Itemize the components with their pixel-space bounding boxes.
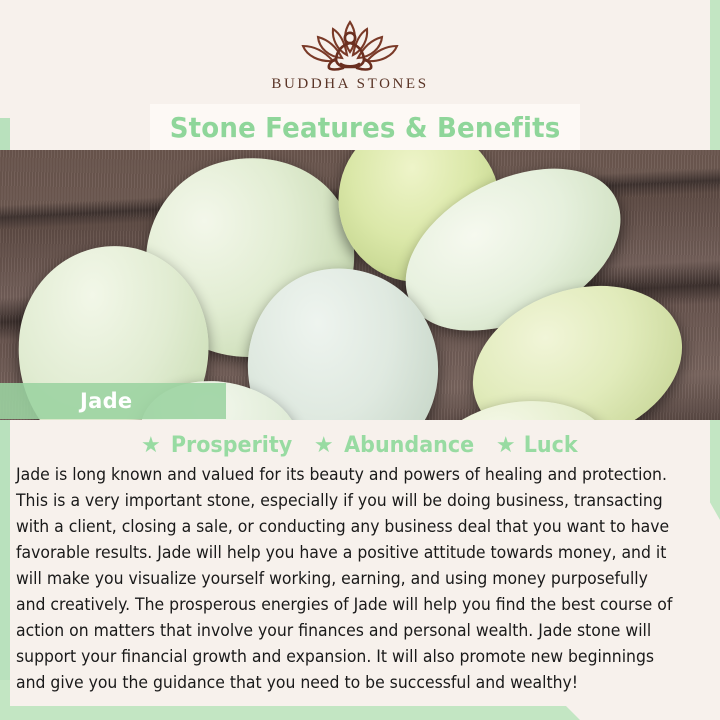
lotus-meditation-icon xyxy=(285,12,415,74)
star-icon: ★ xyxy=(141,434,161,456)
infographic-page: BUDDHA STONES Stone Features & Benefits … xyxy=(0,0,720,720)
star-icon: ★ xyxy=(496,434,516,456)
brand-header: BUDDHA STONES xyxy=(0,0,700,108)
stone-name-label: Jade xyxy=(80,389,132,413)
stone-caption-bar: Jade xyxy=(0,383,226,419)
stone-description: Jade is long known and valued for its be… xyxy=(16,462,675,696)
keyword-label: Abundance xyxy=(344,433,474,458)
title-banner: Stone Features & Benefits xyxy=(150,104,580,150)
stone-photo xyxy=(0,150,720,420)
page-title: Stone Features & Benefits xyxy=(170,111,561,144)
keyword-label: Luck xyxy=(523,433,577,458)
keyword-label: Prosperity xyxy=(171,433,292,458)
keyword-item-prosperity: ★ Prosperity xyxy=(141,433,296,458)
brand-name: BUDDHA STONES xyxy=(271,76,428,93)
keyword-item-abundance: ★ Abundance xyxy=(314,433,478,458)
star-icon: ★ xyxy=(314,434,334,456)
keyword-item-luck: ★ Luck xyxy=(496,433,579,458)
keyword-list: ★ Prosperity ★ Abundance ★ Luck xyxy=(10,428,710,462)
